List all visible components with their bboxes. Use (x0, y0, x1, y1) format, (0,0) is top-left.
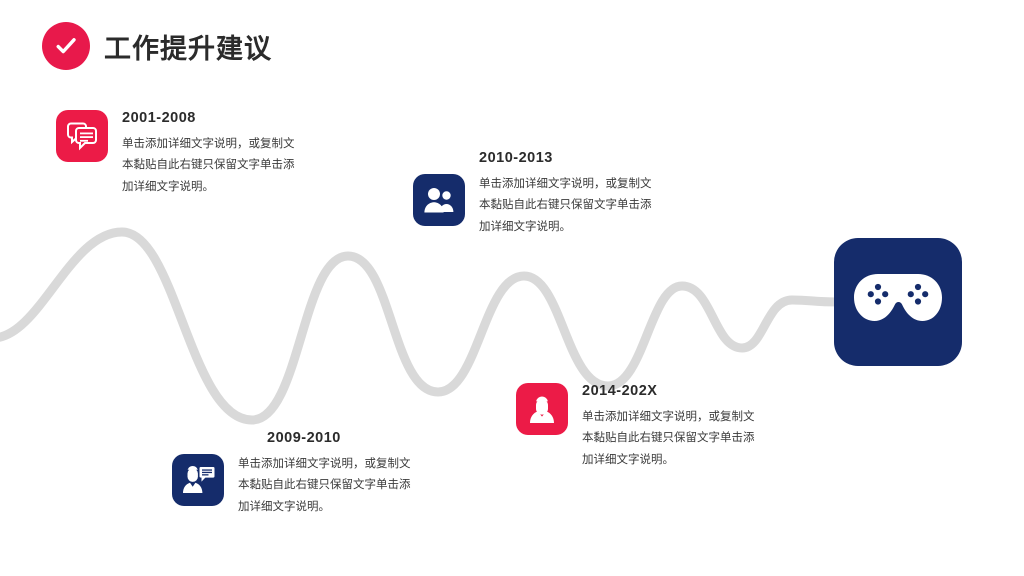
timeline-item-2014-202X[interactable]: 2014-202X 单击添加详细文字说明，或复制文本黏贴自此右键只保留文字单击添… (516, 383, 760, 471)
two-people-icon (413, 174, 465, 226)
timeline-item-title: 2009-2010 (267, 430, 341, 446)
timeline-item-description: 单击添加详细文字说明，或复制文本黏贴自此右键只保留文字单击添加详细文字说明。 (479, 174, 657, 238)
person-speech-icon (172, 454, 224, 506)
timeline-item-title: 2001-2008 (122, 110, 300, 126)
timeline-item-text: 单击添加详细文字说明，或复制文本黏贴自此右键只保留文字单击添加详细文字说明。 (238, 454, 416, 518)
timeline-item-2009-2010[interactable]: 2009-2010 单击添加详细文字说明，或复制文本黏贴自此右键只保留文字单 (172, 430, 416, 518)
timeline-item-text: 2001-2008 单击添加详细文字说明，或复制文本黏贴自此右键只保留文字单击添… (122, 110, 300, 198)
timeline-item-title: 2014-202X (582, 383, 760, 399)
slide-canvas: 工作提升建议 2001-2008 单击添加详细文字说明，或复制文本黏贴自此右键只… (0, 0, 1024, 576)
timeline-item-2010-2013[interactable]: 2010-2013 单击添加详细文字说明，或复制文本黏贴自此右键只保留文字单击添… (413, 150, 657, 238)
timeline-item-2001-2008[interactable]: 2001-2008 单击添加详细文字说明，或复制文本黏贴自此右键只保留文字单击添… (56, 110, 300, 198)
timeline-item-description: 单击添加详细文字说明，或复制文本黏贴自此右键只保留文字单击添加详细文字说明。 (238, 454, 416, 518)
person-icon (516, 383, 568, 435)
gamepad-icon (852, 271, 944, 333)
timeline-item-description: 单击添加详细文字说明，或复制文本黏贴自此右键只保留文字单击添加详细文字说明。 (582, 407, 760, 471)
chat-bubbles-icon (56, 110, 108, 162)
timeline-item-text: 单击添加详细文字说明，或复制文本黏贴自此右键只保留文字单击添加详细文字说明。 (479, 174, 657, 238)
endpoint-gamepad-tile[interactable] (834, 238, 962, 366)
timeline-item-description: 单击添加详细文字说明，或复制文本黏贴自此右键只保留文字单击添加详细文字说明。 (122, 134, 300, 198)
timeline-item-text: 2014-202X 单击添加详细文字说明，或复制文本黏贴自此右键只保留文字单击添… (582, 383, 760, 471)
timeline-item-title: 2010-2013 (479, 150, 553, 166)
